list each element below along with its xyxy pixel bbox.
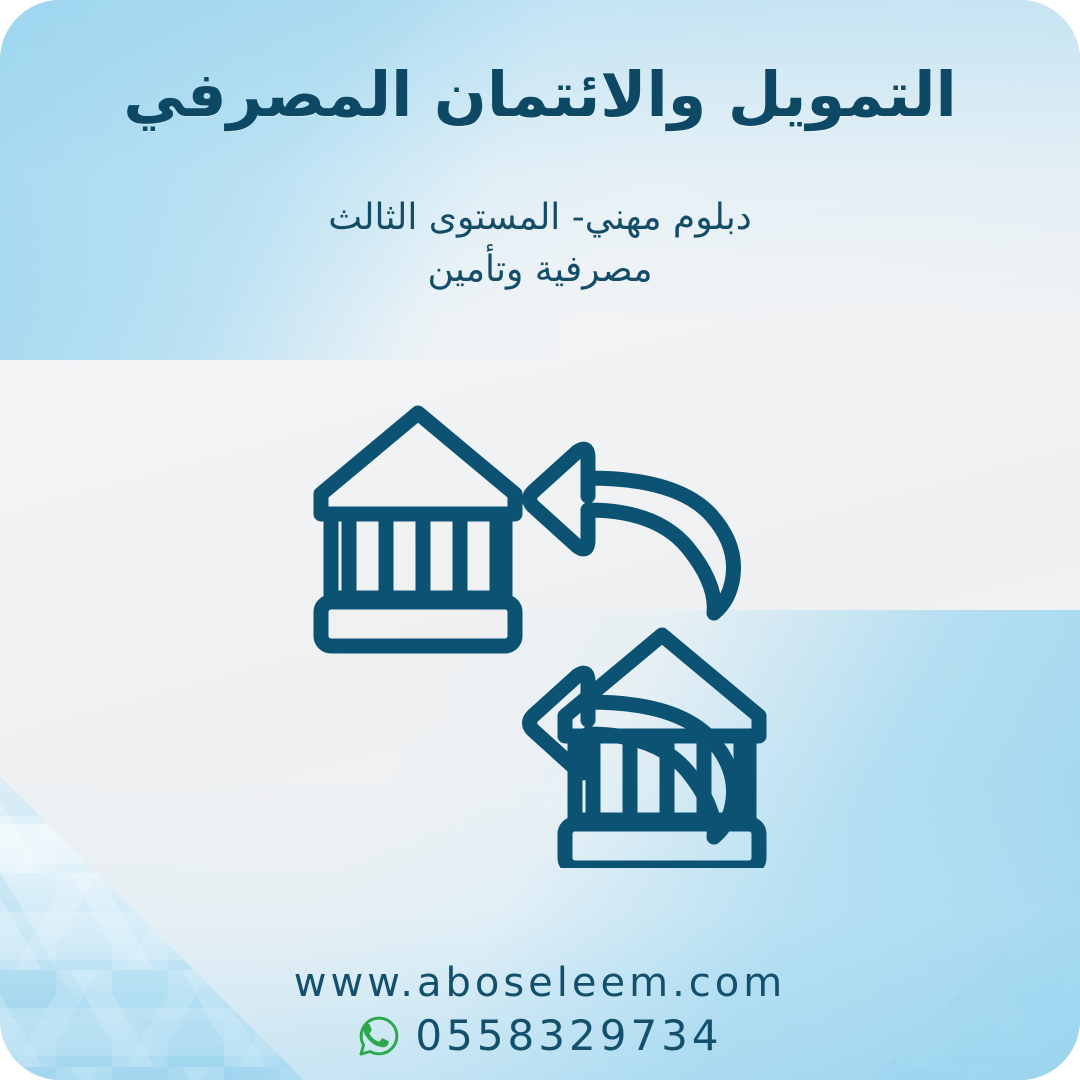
curved-arrow-left-icon [530,449,734,613]
poster-content: التمويل والائتمان المصرفي دبلوم مهني- ال… [0,0,1080,1080]
subtitle-line-2: مصرفية وتأمين [0,244,1080,296]
subtitle-line-1: دبلوم مهني- المستوى الثالث [0,192,1080,244]
bank-transfer-illustration [305,398,775,868]
website-link[interactable]: www.aboseleem.com [0,958,1080,1008]
phone-row: 0558329734 [0,1014,1080,1058]
footer: www.aboseleem.com 0558329734 [0,958,1080,1058]
poster-title: التمويل والائتمان المصرفي [0,58,1080,132]
poster-canvas: التمويل والائتمان المصرفي دبلوم مهني- ال… [0,0,1080,1080]
whatsapp-icon[interactable] [357,1014,401,1058]
poster-card: التمويل والائتمان المصرفي دبلوم مهني- ال… [0,0,1080,1080]
poster-subtitle: دبلوم مهني- المستوى الثالث مصرفية وتأمين [0,192,1080,296]
bank-building-icon [565,635,759,868]
bank-building-icon [321,413,515,646]
phone-number[interactable]: 0558329734 [415,1015,722,1057]
